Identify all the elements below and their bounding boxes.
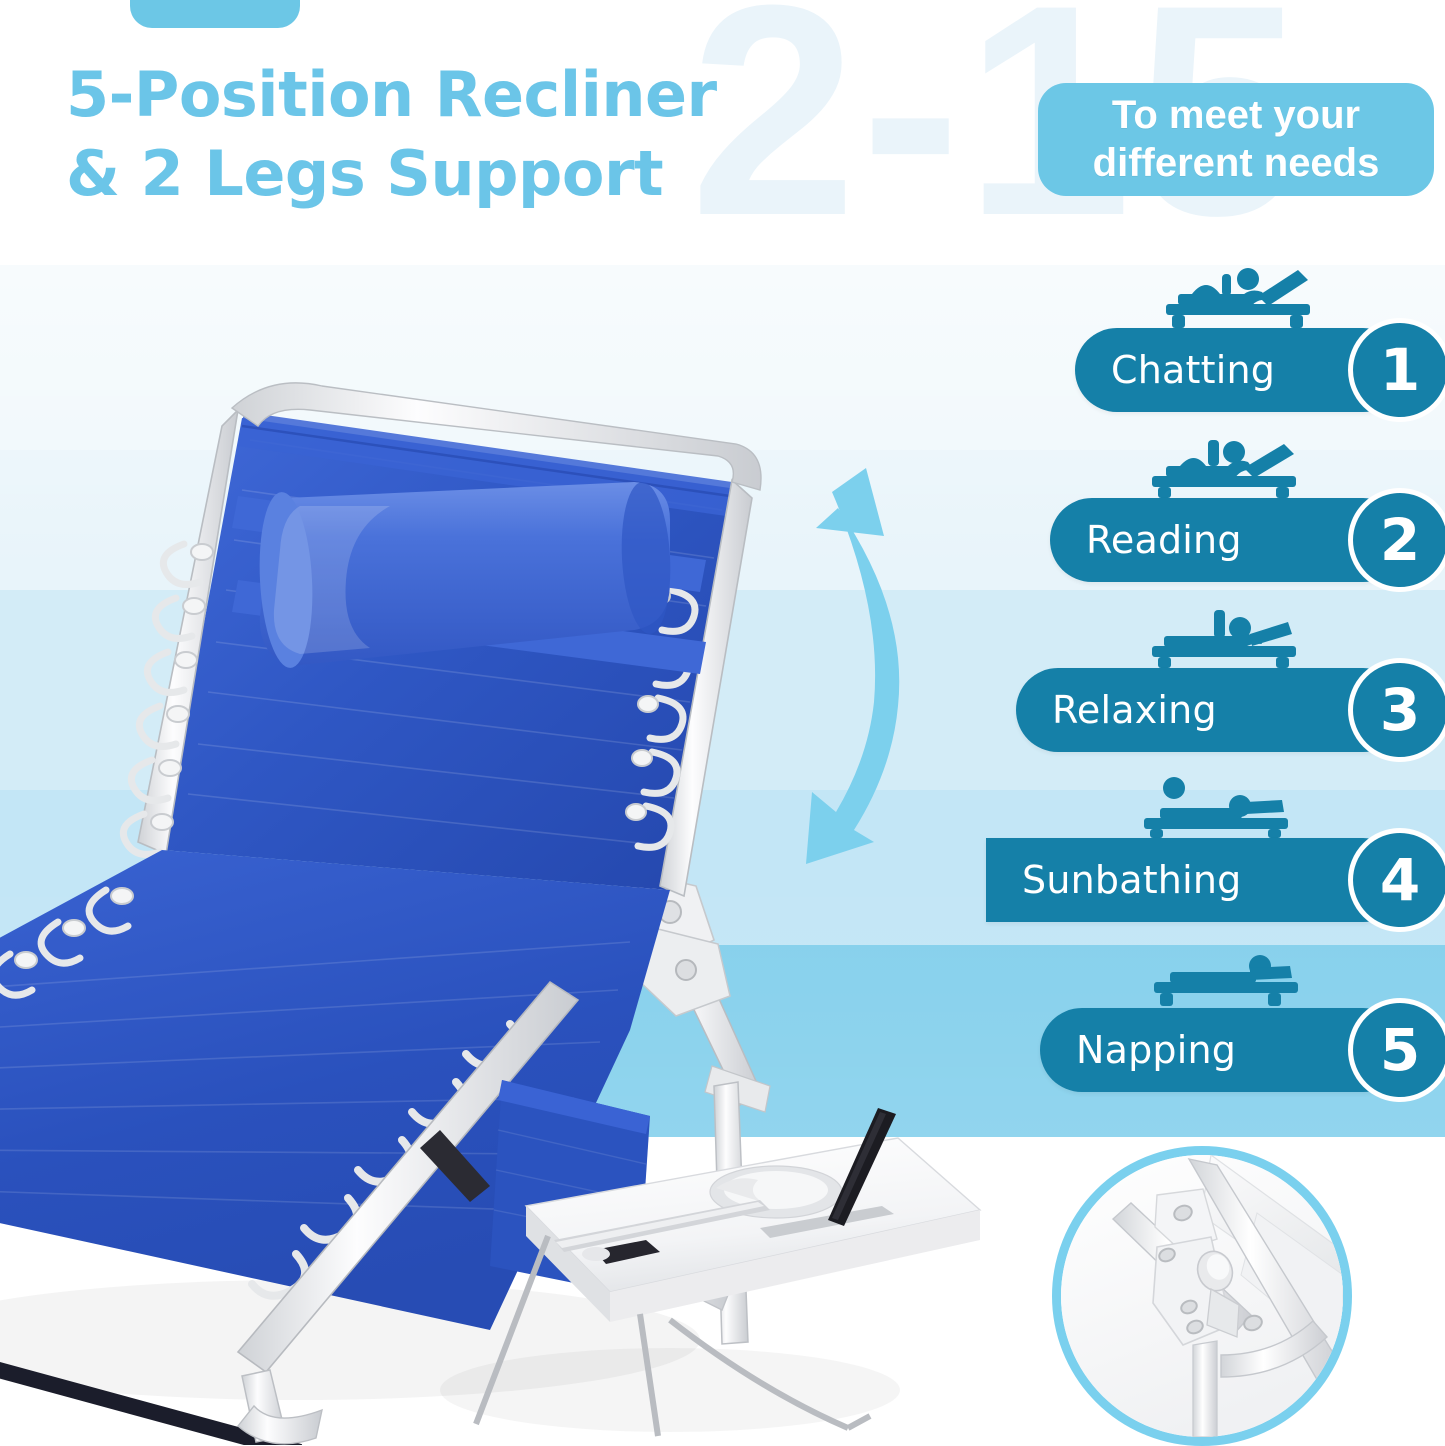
feature-number-badge: 5 bbox=[1348, 998, 1445, 1102]
feature-item-chatting[interactable]: Chatting 1 bbox=[1030, 262, 1445, 438]
feature-item-sunbathing[interactable]: Sunbathing 4 bbox=[1030, 772, 1445, 948]
feature-label: Sunbathing bbox=[986, 858, 1327, 902]
feature-item-relaxing[interactable]: Relaxing 3 bbox=[1030, 602, 1445, 778]
feature-item-napping[interactable]: Napping 5 bbox=[1030, 942, 1445, 1118]
infographic-stage: 2-15 5-Position Recliner & 2 Legs Suppor… bbox=[0, 0, 1445, 1445]
hinge-detail-photo bbox=[1061, 1155, 1343, 1437]
header-tab-stub bbox=[130, 0, 300, 28]
lounger-person-relaxing-icon bbox=[1148, 606, 1300, 668]
recline-adjustment-arrow-icon bbox=[770, 440, 960, 870]
subtitle-line-1: To meet your bbox=[1112, 92, 1360, 139]
feature-number-badge: 4 bbox=[1348, 828, 1445, 932]
feature-item-reading[interactable]: Reading 2 bbox=[1030, 432, 1445, 608]
feature-number-badge: 2 bbox=[1348, 488, 1445, 592]
hinge-detail-inset bbox=[1052, 1146, 1352, 1446]
feature-list: Chatting 1 bbox=[1030, 262, 1445, 1142]
feature-label: Napping bbox=[1040, 1028, 1322, 1072]
feature-label: Chatting bbox=[1075, 348, 1361, 392]
feature-number-badge: 1 bbox=[1348, 318, 1445, 422]
lounger-person-napping-icon bbox=[1150, 946, 1302, 1008]
header: 2-15 5-Position Recliner & 2 Legs Suppor… bbox=[0, 0, 1445, 265]
subtitle-badge: To meet your different needs bbox=[1038, 83, 1434, 196]
lounger-two-people-chatting-icon bbox=[1162, 266, 1314, 328]
lounger-person-reading-icon bbox=[1148, 436, 1300, 498]
page-title-line-1: 5-Position Recliner bbox=[66, 58, 717, 131]
page-title: 5-Position Recliner & 2 Legs Support bbox=[66, 55, 946, 214]
feature-label: Reading bbox=[1050, 518, 1328, 562]
feature-pill-sunbathing[interactable]: Sunbathing bbox=[986, 838, 1405, 922]
feature-label: Relaxing bbox=[1016, 688, 1303, 732]
feature-pill-relaxing[interactable]: Relaxing bbox=[1016, 668, 1405, 752]
lounger-person-sunbathing-icon bbox=[1140, 776, 1292, 838]
subtitle-line-2: different needs bbox=[1093, 140, 1380, 187]
page-title-line-2: & 2 Legs Support bbox=[66, 134, 946, 213]
feature-number-badge: 3 bbox=[1348, 658, 1445, 762]
